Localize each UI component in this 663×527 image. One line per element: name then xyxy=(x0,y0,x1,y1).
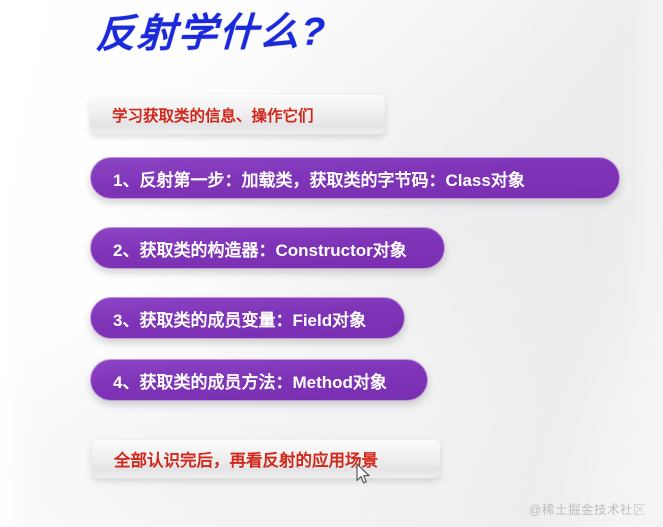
step-item-1: 1、反射第一步：加载类，获取类的字节码：Class对象 xyxy=(90,157,620,199)
slide-canvas: 反射学什么? 学习获取类的信息、操作它们 1、反射第一步：加载类，获取类的字节码… xyxy=(0,0,663,527)
intro-banner: 学习获取类的信息、操作它们 xyxy=(90,95,385,134)
watermark: @稀土掘金技术社区 xyxy=(529,499,646,518)
step-item-1-label: 1、反射第一步：加载类，获取类的字节码：Class对象 xyxy=(113,166,525,191)
step-item-3: 3、获取类的成员变量：Field对象 xyxy=(90,297,405,339)
intro-banner-label: 学习获取类的信息、操作它们 xyxy=(112,104,314,126)
step-item-4: 4、获取类的成员方法：Method对象 xyxy=(90,359,428,401)
step-item-4-label: 4、获取类的成员方法：Method对象 xyxy=(113,368,387,393)
outro-banner: 全部认识完后，再看反射的应用场景 xyxy=(92,440,440,478)
step-item-3-label: 3、获取类的成员变量：Field对象 xyxy=(113,306,366,331)
outro-banner-label: 全部认识完后，再看反射的应用场景 xyxy=(114,447,378,471)
step-item-2-label: 2、获取类的构造器：Constructor对象 xyxy=(113,236,407,261)
page-title: 反射学什么? xyxy=(95,8,328,61)
step-item-2: 2、获取类的构造器：Constructor对象 xyxy=(90,227,445,269)
